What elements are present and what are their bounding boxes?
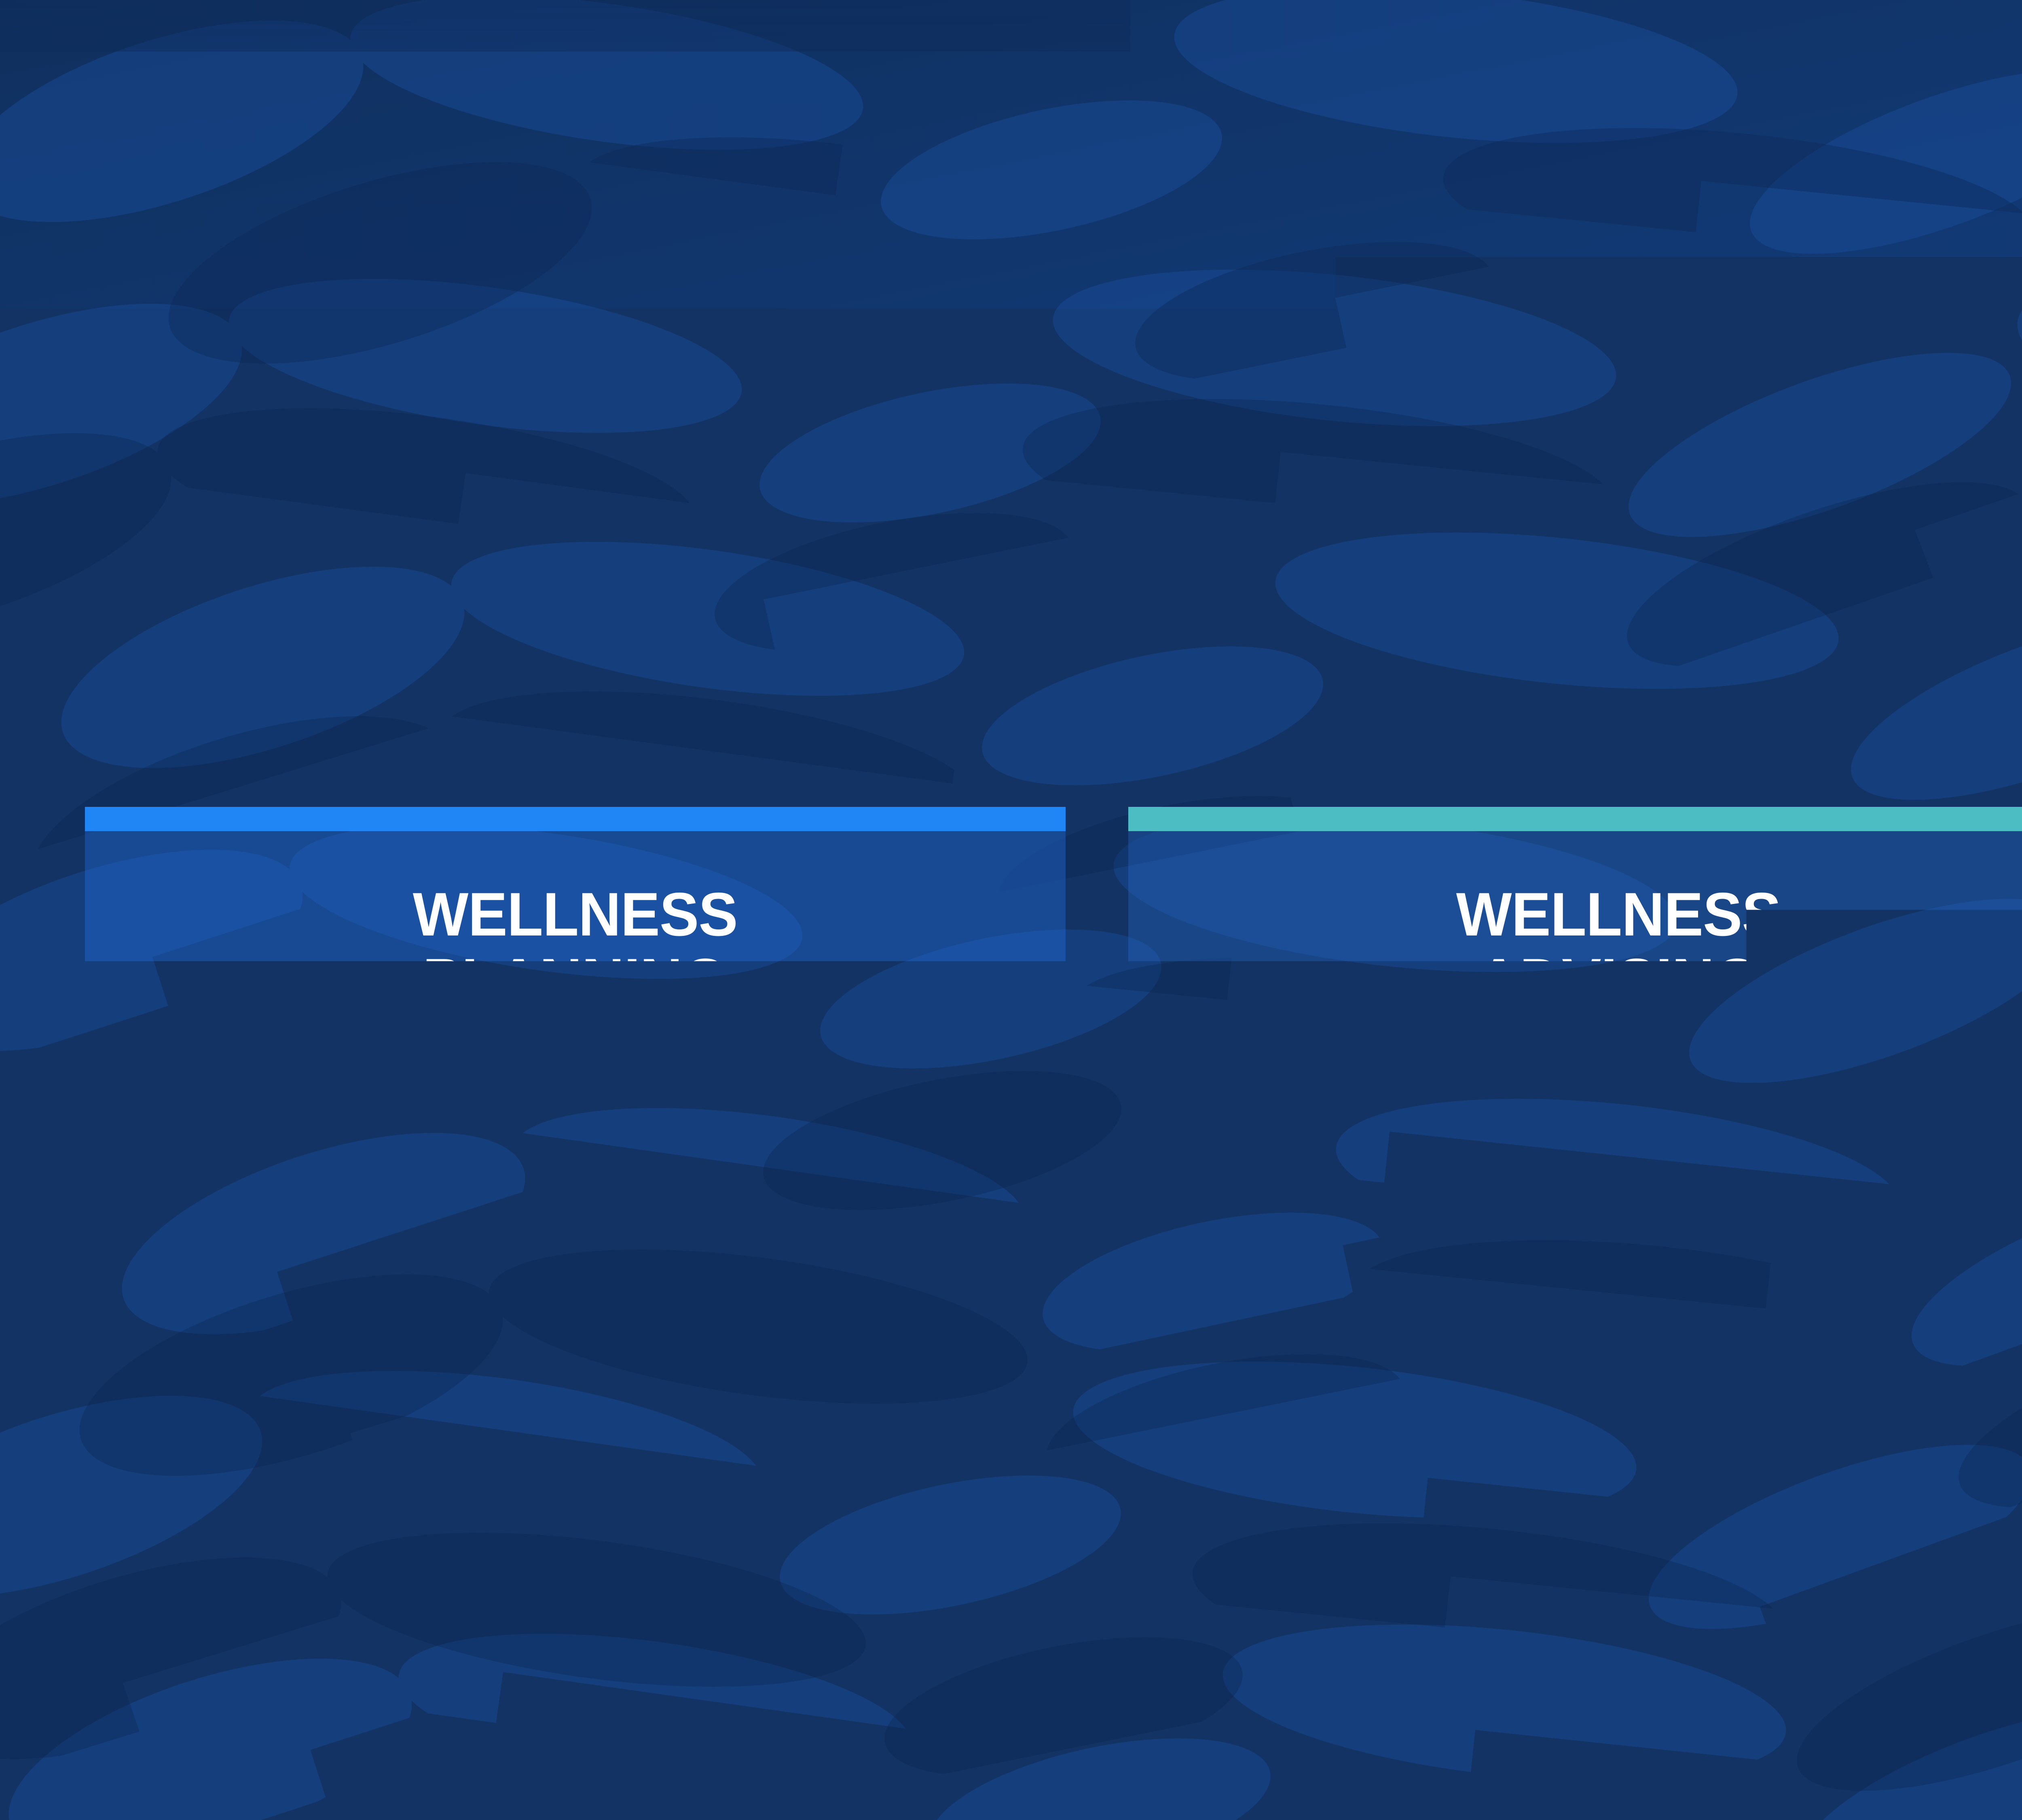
card-title-line-2: ADVISING [1456, 948, 1781, 1014]
header: MENTAL STRENGTh ENGINEERING WELLNESS CEN… [0, 0, 2022, 595]
mental-strength-graphic: MENTAL STRENGTh [121, 170, 809, 663]
logo-wordmark-pigman: Pigman [417, 1541, 682, 1638]
card-title: WELLNESS PLANNING [413, 882, 738, 1013]
bullet-icon [1132, 1659, 1146, 1672]
card-accent-bar-top [1128, 807, 2022, 831]
hours-item-lead: Various times available [1160, 1587, 1550, 1628]
list-item: Various times available Mon., Tues., Thu… [1132, 1586, 2022, 1629]
card-description: Structured reflection on your current we… [116, 1110, 1034, 1204]
hours-item-text: Various times available Mon., Tues., Thu… [1160, 1586, 1992, 1629]
card-accent-bar-bottom [85, 1436, 1066, 1460]
card-accent-bar-top [85, 807, 1066, 831]
card-accent-bar-bottom [1128, 1436, 2022, 1460]
card-title-line-1: WELLNESS [413, 882, 738, 948]
footer: Pigman College of Engineering HOURS & LO… [0, 1472, 2022, 1820]
svg-text:MENTAL: MENTAL [122, 234, 638, 450]
card-wellness-advising[interactable]: WELLNESS ADVISING (25 or 50 minutes) Ope… [1128, 807, 2022, 1460]
uk-pigman-logo: Pigman College of Engineering [226, 1525, 914, 1695]
hours-and-location: HOURS & LOCATION: Various times availabl… [1132, 1511, 2022, 1687]
title-line-center: CENTER [884, 306, 2022, 393]
list-item: 351 Ralph G. Anderson Building (RGAN) [1132, 1645, 2022, 1687]
title-line-wellness: WELLNESS [829, 140, 2022, 304]
appointment-types-label: Appointment Types [1335, 629, 1904, 699]
card-wellness-planning[interactable]: WELLNESS PLANNING (25 or 50 minutes) Str… [85, 807, 1066, 1460]
bullet-icon [1132, 1600, 1146, 1614]
logo-subtitle: College of Engineering [417, 1638, 818, 1685]
hours-item-text: 351 Ralph G. Anderson Building (RGAN) [1160, 1645, 1832, 1687]
hours-heading: HOURS & LOCATION: [1132, 1511, 2022, 1570]
card-title: WELLNESS ADVISING [1456, 882, 1781, 1013]
card-title-line-2: PLANNING [413, 948, 738, 1014]
hours-item-lead: 351 Ralph G. Anderson Building (RGAN) [1160, 1645, 1832, 1687]
appointment-type-cards: WELLNESS PLANNING (25 or 50 minutes) Str… [0, 807, 2022, 1466]
page-title: ENGINEERING WELLNESS CENTER [829, 53, 2022, 393]
card-duration: (25 or 50 minutes) [395, 1026, 755, 1072]
card-title-line-1: WELLNESS [1456, 882, 1781, 948]
hours-item-bold: Mon., Tues., Thurs. & Fri. [1550, 1587, 1992, 1628]
uk-wordmark-icon [241, 1539, 394, 1682]
card-duration: (25 or 50 minutes) [1438, 1026, 1798, 1072]
appointment-types-banner: Appointment Types [1128, 609, 2022, 720]
card-description: Open, flexible conversations centered on… [1160, 1110, 2022, 1204]
